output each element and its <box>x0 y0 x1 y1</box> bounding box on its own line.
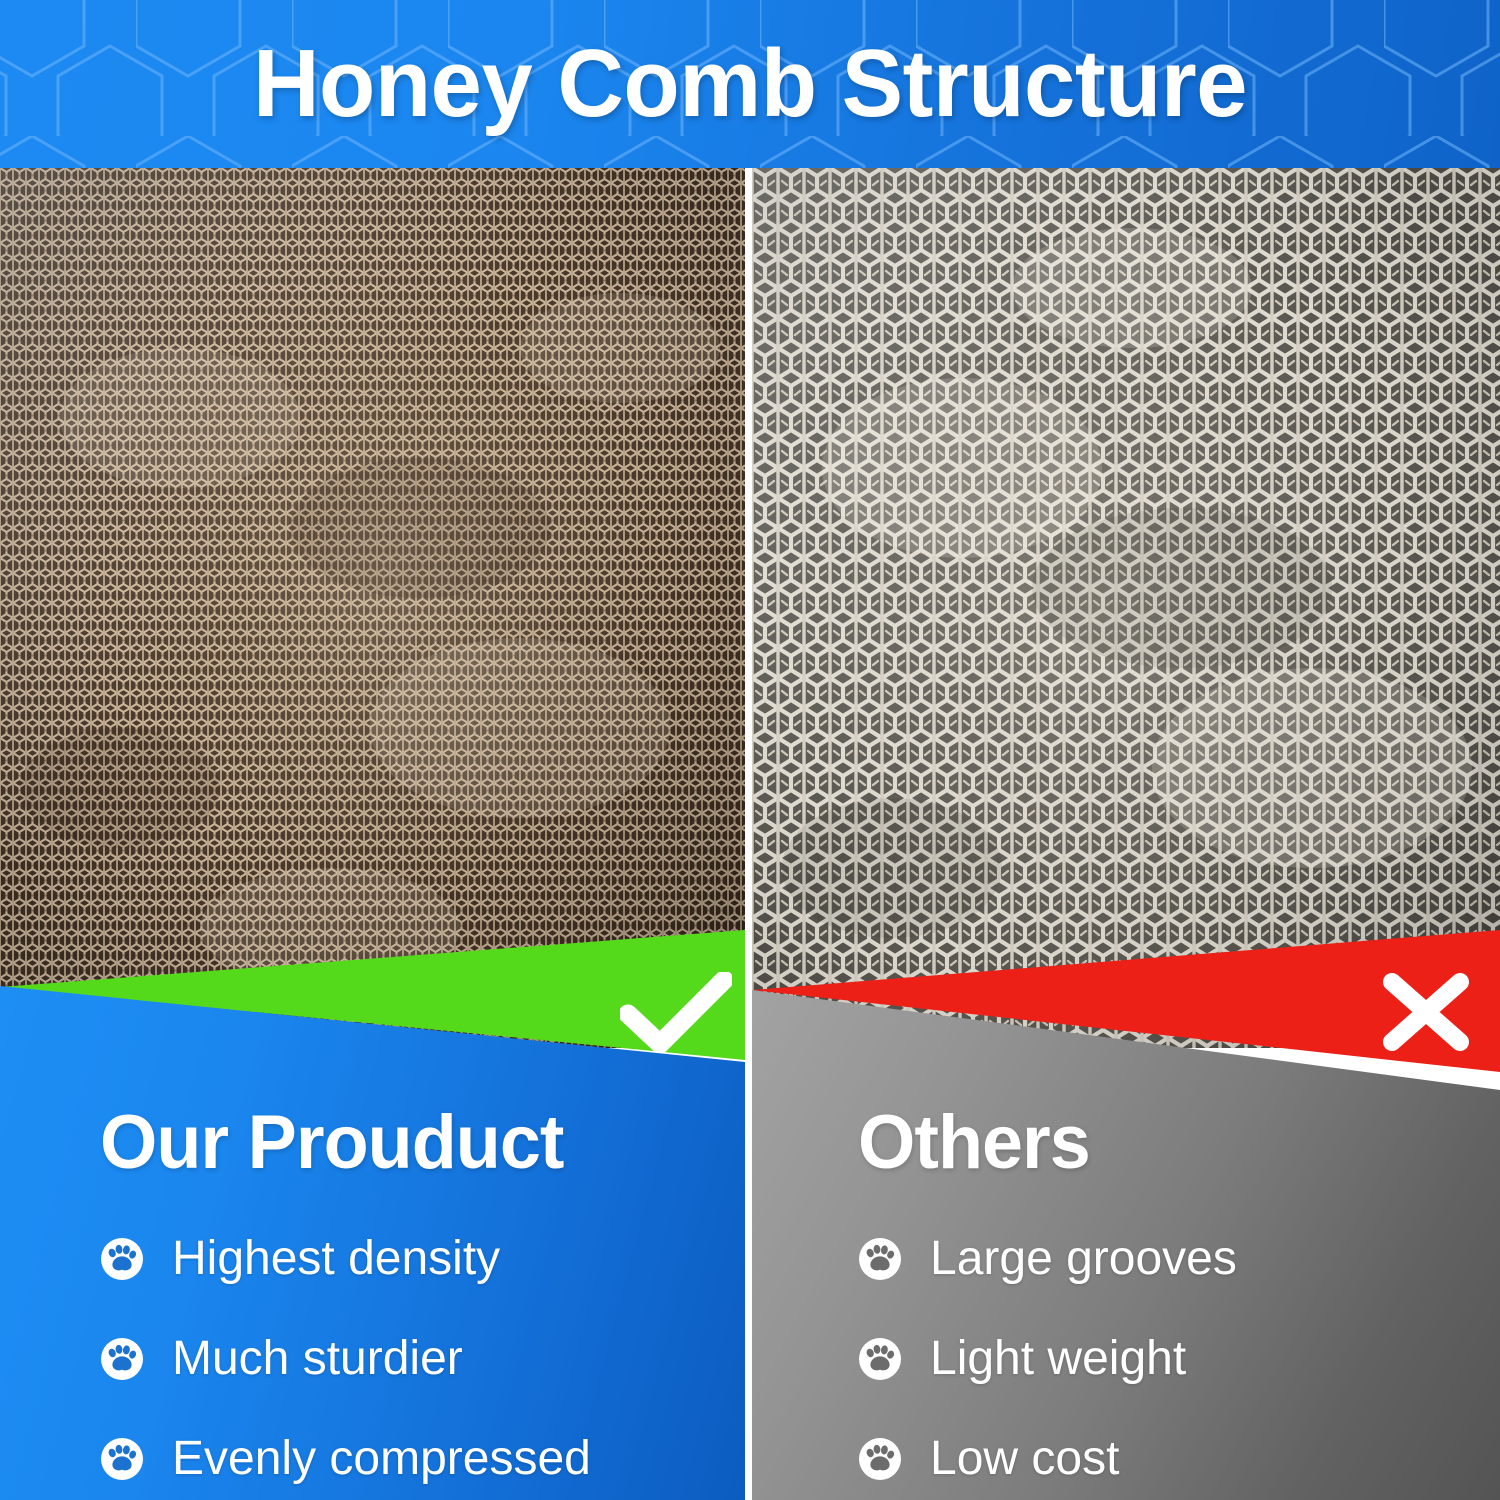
paw-icon <box>858 1337 902 1381</box>
coarse-honeycomb-texture-icon <box>752 168 1500 1048</box>
paw-icon <box>858 1237 902 1281</box>
feature-label: Low cost <box>930 1435 1119 1483</box>
feature-label: Evenly compressed <box>172 1435 591 1483</box>
paw-icon <box>100 1437 144 1481</box>
ours-content: Our Prouduct Highest density <box>100 1105 740 1500</box>
fine-honeycomb-texture-icon <box>0 168 745 1048</box>
paw-icon <box>100 1237 144 1281</box>
others-heading: Others <box>858 1105 1469 1181</box>
cross-icon <box>1378 972 1474 1052</box>
list-item: Low cost <box>858 1435 1488 1483</box>
paw-icon <box>100 1337 144 1381</box>
check-icon <box>620 972 732 1052</box>
feature-label: Light weight <box>930 1335 1186 1383</box>
infographic-root: Honey Comb Structure <box>0 0 1500 1500</box>
list-item: Highest density <box>100 1235 740 1283</box>
photo-divider <box>745 168 752 1048</box>
page-title: Honey Comb Structure <box>30 0 1470 168</box>
feature-label: Highest density <box>172 1235 500 1283</box>
paw-icon <box>858 1437 902 1481</box>
header-banner: Honey Comb Structure <box>0 0 1500 168</box>
others-content: Others Large grooves <box>858 1105 1488 1500</box>
list-item: Evenly compressed <box>100 1435 740 1483</box>
feature-label: Large grooves <box>930 1235 1237 1283</box>
ours-heading: Our Prouduct <box>100 1105 721 1181</box>
list-item: Large grooves <box>858 1235 1488 1283</box>
others-feature-list: Large grooves Light weight <box>858 1235 1488 1483</box>
feature-label: Much sturdier <box>172 1335 463 1383</box>
product-photo-left <box>0 168 745 1048</box>
ours-feature-list: Highest density Much sturdier <box>100 1235 740 1483</box>
product-photo-right <box>752 168 1500 1048</box>
list-item: Light weight <box>858 1335 1488 1383</box>
list-item: Much sturdier <box>100 1335 740 1383</box>
